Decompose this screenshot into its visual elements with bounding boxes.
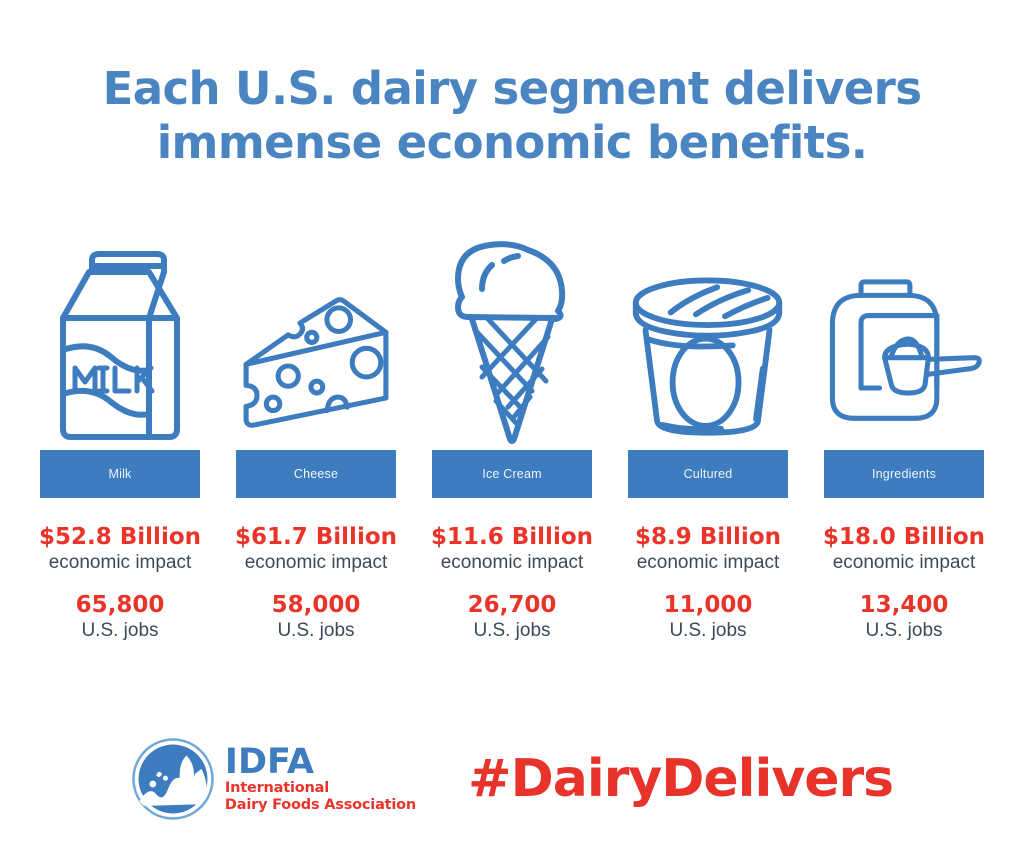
idfa-logo[interactable]: IDFA International Dairy Foods Associati…: [131, 737, 416, 821]
segment-column-cheese: Cheese $61.7 Billion economic impact 58,…: [236, 232, 396, 643]
jobs-amount-cheese: 58,000: [272, 592, 361, 618]
impact-amount-ice-cream: $11.6 Billion: [431, 524, 593, 550]
impact-caption-ice-cream: economic impact: [441, 551, 584, 575]
segment-column-ingredients: Ingredients $18.0 Billion economic impac…: [824, 232, 984, 643]
segment-label-bar-ice-cream[interactable]: Ice Cream: [432, 450, 592, 498]
ice-cream-cone-icon: [432, 232, 592, 450]
impact-amount-cheese: $61.7 Billion: [235, 524, 397, 550]
jobs-caption-ice-cream: U.S. jobs: [473, 619, 550, 643]
impact-amount-milk: $52.8 Billion: [39, 524, 201, 550]
segment-label-bar-cheese[interactable]: Cheese: [236, 450, 396, 498]
impact-amount-ingredients: $18.0 Billion: [823, 524, 985, 550]
segment-label-text: Milk: [108, 467, 131, 481]
segment-label-text: Ice Cream: [482, 467, 541, 481]
segment-label-bar-cultured[interactable]: Cultured: [628, 450, 788, 498]
jobs-caption-cultured: U.S. jobs: [669, 619, 746, 643]
jobs-amount-ice-cream: 26,700: [468, 592, 557, 618]
segment-column-milk: Milk $52.8 Billion economic impact 65,80…: [40, 232, 200, 643]
segment-label-text: Cheese: [294, 467, 338, 481]
impact-caption-cultured: economic impact: [637, 551, 780, 575]
jobs-amount-ingredients: 13,400: [860, 592, 949, 618]
segments-row: Milk $52.8 Billion economic impact 65,80…: [40, 232, 984, 643]
impact-caption-milk: economic impact: [49, 551, 192, 575]
yogurt-tub-icon: [628, 232, 788, 450]
impact-amount-cultured: $8.9 Billion: [635, 524, 781, 550]
jobs-amount-milk: 65,800: [76, 592, 165, 618]
logo-acronym: IDFA: [225, 744, 416, 780]
segment-column-ice-cream: Ice Cream $11.6 Billion economic impact …: [432, 232, 592, 643]
protein-jar-scoop-icon: [824, 232, 984, 450]
segment-label-bar-milk[interactable]: Milk: [40, 450, 200, 498]
logo-subtitle-line-2: Dairy Foods Association: [225, 797, 416, 814]
page-title: Each U.S. dairy segment delivers immense…: [0, 62, 1024, 170]
logo-subtitle-line-1: International: [225, 780, 416, 797]
impact-caption-cheese: economic impact: [245, 551, 388, 575]
idfa-milk-splash-logo-icon: [131, 737, 215, 821]
jobs-caption-cheese: U.S. jobs: [277, 619, 354, 643]
jobs-caption-milk: U.S. jobs: [81, 619, 158, 643]
segment-label-bar-ingredients[interactable]: Ingredients: [824, 450, 984, 498]
cheese-wedge-icon: [236, 232, 396, 450]
footer: IDFA International Dairy Foods Associati…: [0, 724, 1024, 834]
segment-column-cultured: Cultured $8.9 Billion economic impact 11…: [628, 232, 788, 643]
hashtag-dairy-delivers: #DairyDelivers: [468, 749, 893, 809]
jobs-amount-cultured: 11,000: [664, 592, 753, 618]
milk-carton-icon: [40, 232, 200, 450]
title-line-2: immense economic benefits.: [0, 116, 1024, 170]
impact-caption-ingredients: economic impact: [833, 551, 976, 575]
title-line-1: Each U.S. dairy segment delivers: [0, 62, 1024, 116]
segment-label-text: Cultured: [684, 467, 733, 481]
segment-label-text: Ingredients: [872, 467, 936, 481]
jobs-caption-ingredients: U.S. jobs: [865, 619, 942, 643]
